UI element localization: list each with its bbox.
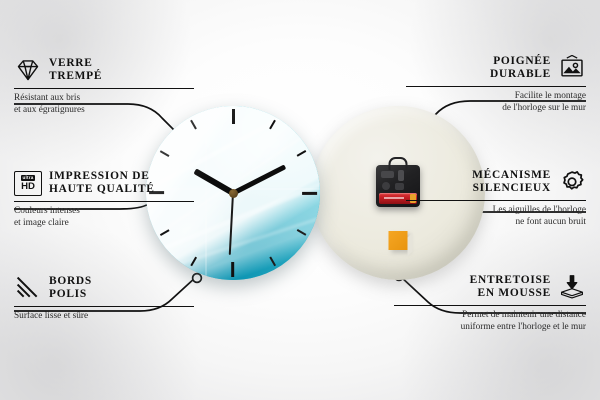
gear-icon — [558, 169, 586, 195]
diagonal-lines-icon — [14, 275, 42, 301]
feature-poignee-durable[interactable]: POIGNÉE DURABLE Facilite le montage de l… — [406, 55, 586, 114]
mechanism-detail — [398, 170, 404, 181]
feature-description: Facilite le montage de l'horloge sur le … — [406, 91, 586, 114]
feature-description: Permet de maintenir une distance uniform… — [394, 310, 586, 333]
feature-impression-haute-qualite[interactable]: ultra HD IMPRESSION DE HAUTE QUALITÉ Cou… — [14, 170, 194, 229]
feature-divider — [406, 200, 586, 202]
infographic-canvas: VERRE TREMPÉ Résistant aux bris et aux é… — [0, 0, 600, 400]
feature-header: POIGNÉE DURABLE — [406, 55, 586, 82]
feature-mecanisme-silencieux[interactable]: MÉCANISME SILENCIEUX Les aiguilles de l'… — [406, 169, 586, 228]
feature-description: Résistant aux bris et aux égratignures — [14, 93, 194, 116]
feature-divider — [14, 88, 194, 90]
feature-divider — [406, 86, 586, 88]
feature-title: BORDS POLIS — [49, 275, 92, 302]
hanger-loop-icon — [389, 157, 408, 170]
foam-spacer — [389, 231, 408, 250]
feature-bords-polis[interactable]: BORDS POLIS Surface lisse et sûre — [14, 275, 194, 323]
feature-entretoise-en-mousse[interactable]: ENTRETOISE EN MOUSSE Permet de maintenir… — [394, 274, 586, 333]
feature-title: POIGNÉE DURABLE — [490, 55, 551, 82]
feature-header: BORDS POLIS — [14, 275, 194, 302]
mechanism-detail — [395, 183, 404, 190]
feature-verre-trempe[interactable]: VERRE TREMPÉ Résistant aux bris et aux é… — [14, 57, 194, 116]
mechanism-detail — [381, 171, 394, 178]
feature-title: IMPRESSION DE HAUTE QUALITÉ — [49, 170, 155, 197]
feature-title: VERRE TREMPÉ — [49, 57, 102, 84]
ultra-hd-badge-icon: ultra HD — [14, 171, 42, 196]
feature-description: Les aiguilles de l'horloge ne font aucun… — [406, 205, 586, 228]
feature-description: Surface lisse et sûre — [14, 311, 194, 322]
feature-divider — [14, 306, 194, 308]
feature-title: MÉCANISME SILENCIEUX — [472, 169, 551, 196]
feature-title: ENTRETOISE EN MOUSSE — [470, 274, 551, 301]
feature-description: Couleurs intenses et image claire — [14, 206, 194, 229]
feature-header: MÉCANISME SILENCIEUX — [406, 169, 586, 196]
feature-header: ultra HD IMPRESSION DE HAUTE QUALITÉ — [14, 170, 194, 197]
mechanism-detail — [382, 182, 390, 190]
feature-header: VERRE TREMPÉ — [14, 57, 194, 84]
battery-stripe — [384, 197, 404, 199]
arrow-down-foam-icon — [558, 274, 586, 300]
diamond-icon — [14, 57, 42, 83]
feature-header: ENTRETOISE EN MOUSSE — [394, 274, 586, 301]
feature-divider — [14, 201, 194, 203]
feature-divider — [394, 305, 586, 307]
picture-hanger-icon — [558, 55, 586, 81]
